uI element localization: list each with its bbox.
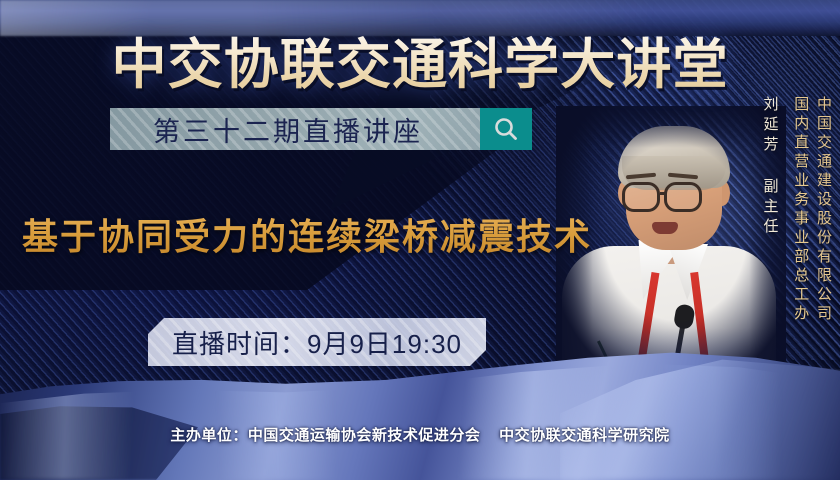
organizers-footer: 主办单位：中国交通运输协会新技术促进分会 中交协联交通科学研究院	[0, 424, 840, 445]
speaker-company: 中国交通建设股份有限公司	[813, 96, 832, 324]
glasses-lens-right	[664, 182, 702, 212]
episode-label: 第三十二期直播讲座	[110, 108, 480, 150]
speaker-mouth	[652, 222, 678, 234]
speaker-hair	[618, 126, 730, 188]
lecture-title: 基于协同受力的连续梁桥减震技术	[22, 208, 622, 260]
speaker-department: 国内直营业务事业部总工办	[791, 96, 810, 324]
glasses-bridge	[660, 192, 666, 195]
speaker-name-and-title: 刘延芳 副主任	[760, 96, 779, 238]
glasses-lens-left	[622, 182, 660, 212]
episode-search-bar[interactable]: 第三十二期直播讲座	[110, 108, 532, 150]
live-lecture-poster: 中交协联交通科学大讲堂 第三十二期直播讲座 基于协同受力的连续梁桥减震技术 直播…	[0, 0, 840, 480]
live-time-label: 直播时间：9月9日19:30	[172, 324, 462, 361]
search-icon	[492, 115, 520, 143]
page-title: 中交协联交通科学大讲堂	[0, 20, 840, 99]
search-button[interactable]	[480, 108, 532, 150]
live-time-badge: 直播时间：9月9日19:30	[148, 318, 486, 366]
speaker-info: 中国交通建设股份有限公司 国内直营业务事业部总工办 刘延芳 副主任	[760, 96, 832, 324]
